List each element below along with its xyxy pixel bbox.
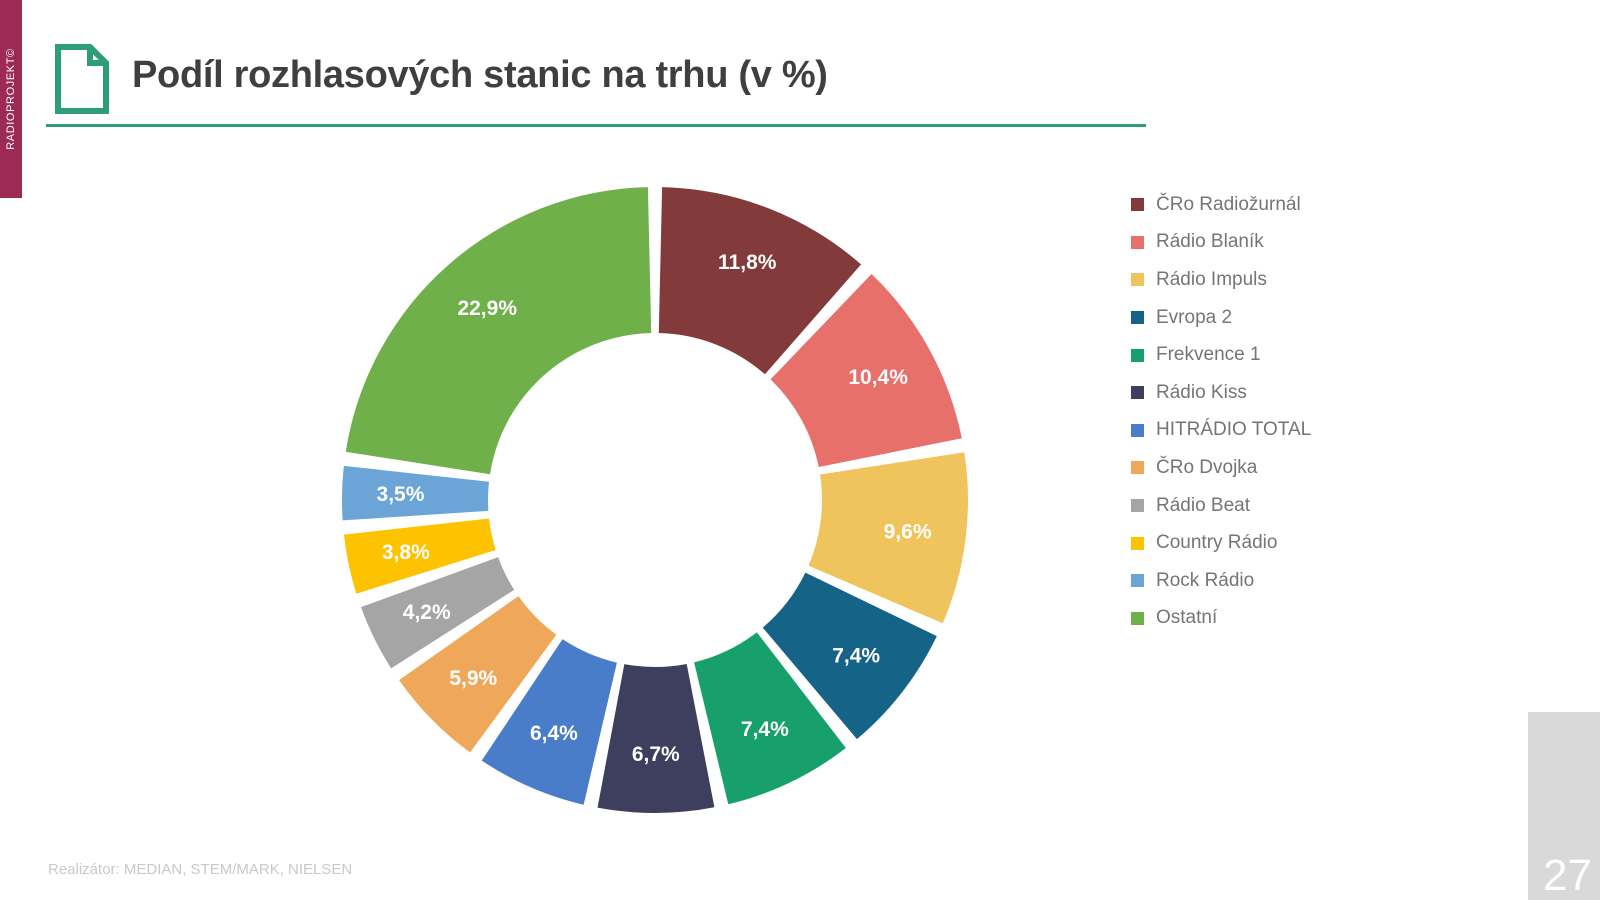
legend-item[interactable]: Rádio Blaník: [1131, 224, 1461, 262]
legend-item[interactable]: Rock Rádio: [1131, 562, 1461, 600]
legend-swatch-icon: [1131, 236, 1144, 249]
legend-item-label: HITRÁDIO TOTAL: [1156, 419, 1311, 441]
donut-slice-label: 10,4%: [848, 366, 908, 389]
legend-swatch-icon: [1131, 386, 1144, 399]
legend-item[interactable]: Rádio Beat: [1131, 487, 1461, 525]
title-divider: [46, 124, 1146, 127]
legend-item[interactable]: ČRo Radiožurnál: [1131, 186, 1461, 224]
legend-swatch-icon: [1131, 537, 1144, 550]
donut-slice-group: [342, 187, 968, 813]
chart-legend: ČRo RadiožurnálRádio BlaníkRádio ImpulsE…: [1131, 186, 1461, 637]
donut-slice-label: 5,9%: [449, 667, 497, 690]
legend-item[interactable]: ČRo Dvojka: [1131, 449, 1461, 487]
page-header: Podíl rozhlasových stanic na trhu (v %): [46, 34, 1146, 134]
legend-item[interactable]: Rádio Kiss: [1131, 374, 1461, 412]
donut-slice[interactable]: [598, 664, 715, 813]
legend-swatch-icon: [1131, 574, 1144, 587]
legend-swatch-icon: [1131, 461, 1144, 474]
donut-slice-label: 6,7%: [632, 743, 680, 766]
page-number: 27: [1543, 854, 1592, 898]
legend-swatch-icon: [1131, 349, 1144, 362]
legend-item-label: Rádio Impuls: [1156, 269, 1267, 291]
legend-item[interactable]: Ostatní: [1131, 600, 1461, 638]
donut-slice-label: 11,8%: [718, 251, 777, 274]
donut-slice[interactable]: [346, 187, 651, 474]
legend-item[interactable]: HITRÁDIO TOTAL: [1131, 412, 1461, 450]
legend-item-label: Country Rádio: [1156, 532, 1277, 554]
document-icon: [54, 44, 110, 114]
donut-slice-label: 3,8%: [382, 541, 430, 564]
donut-slice-label: 6,4%: [530, 722, 578, 745]
page-title: Podíl rozhlasových stanic na trhu (v %): [132, 54, 828, 97]
legend-item-label: Rock Rádio: [1156, 570, 1254, 592]
legend-item-label: ČRo Radiožurnál: [1156, 194, 1301, 216]
brand-side-bar: RADIOPROJEKT©: [0, 0, 22, 198]
donut-slice-label: 4,2%: [403, 601, 451, 624]
legend-item-label: Ostatní: [1156, 607, 1217, 629]
legend-item-label: Rádio Beat: [1156, 495, 1250, 517]
donut-chart: 11,8%10,4%9,6%7,4%7,4%6,7%6,4%5,9%4,2%3,…: [300, 145, 1010, 855]
legend-item-label: Frekvence 1: [1156, 344, 1261, 366]
donut-slice-label: 7,4%: [832, 645, 880, 668]
footer-source-note: Realizátor: MEDIAN, STEM/MARK, NIELSEN: [48, 861, 352, 878]
legend-item-label: Rádio Blaník: [1156, 231, 1264, 253]
legend-swatch-icon: [1131, 424, 1144, 437]
legend-item[interactable]: Frekvence 1: [1131, 336, 1461, 374]
donut-slice-label: 3,5%: [377, 483, 425, 506]
legend-swatch-icon: [1131, 273, 1144, 286]
legend-item-label: Rádio Kiss: [1156, 382, 1247, 404]
legend-item-label: Evropa 2: [1156, 307, 1232, 329]
legend-swatch-icon: [1131, 311, 1144, 324]
donut-slice-label: 7,4%: [741, 718, 789, 741]
legend-swatch-icon: [1131, 499, 1144, 512]
legend-item[interactable]: Country Rádio: [1131, 524, 1461, 562]
legend-item-label: ČRo Dvojka: [1156, 457, 1257, 479]
legend-swatch-icon: [1131, 612, 1144, 625]
donut-slice-label: 9,6%: [884, 520, 932, 543]
legend-item[interactable]: Evropa 2: [1131, 299, 1461, 337]
legend-item[interactable]: Rádio Impuls: [1131, 261, 1461, 299]
donut-chart-svg: 11,8%10,4%9,6%7,4%7,4%6,7%6,4%5,9%4,2%3,…: [300, 145, 1010, 855]
page-number-block: 27: [1528, 712, 1600, 900]
legend-swatch-icon: [1131, 198, 1144, 211]
donut-slice-label: 22,9%: [457, 297, 517, 320]
brand-vertical-label: RADIOPROJEKT©: [0, 0, 22, 198]
